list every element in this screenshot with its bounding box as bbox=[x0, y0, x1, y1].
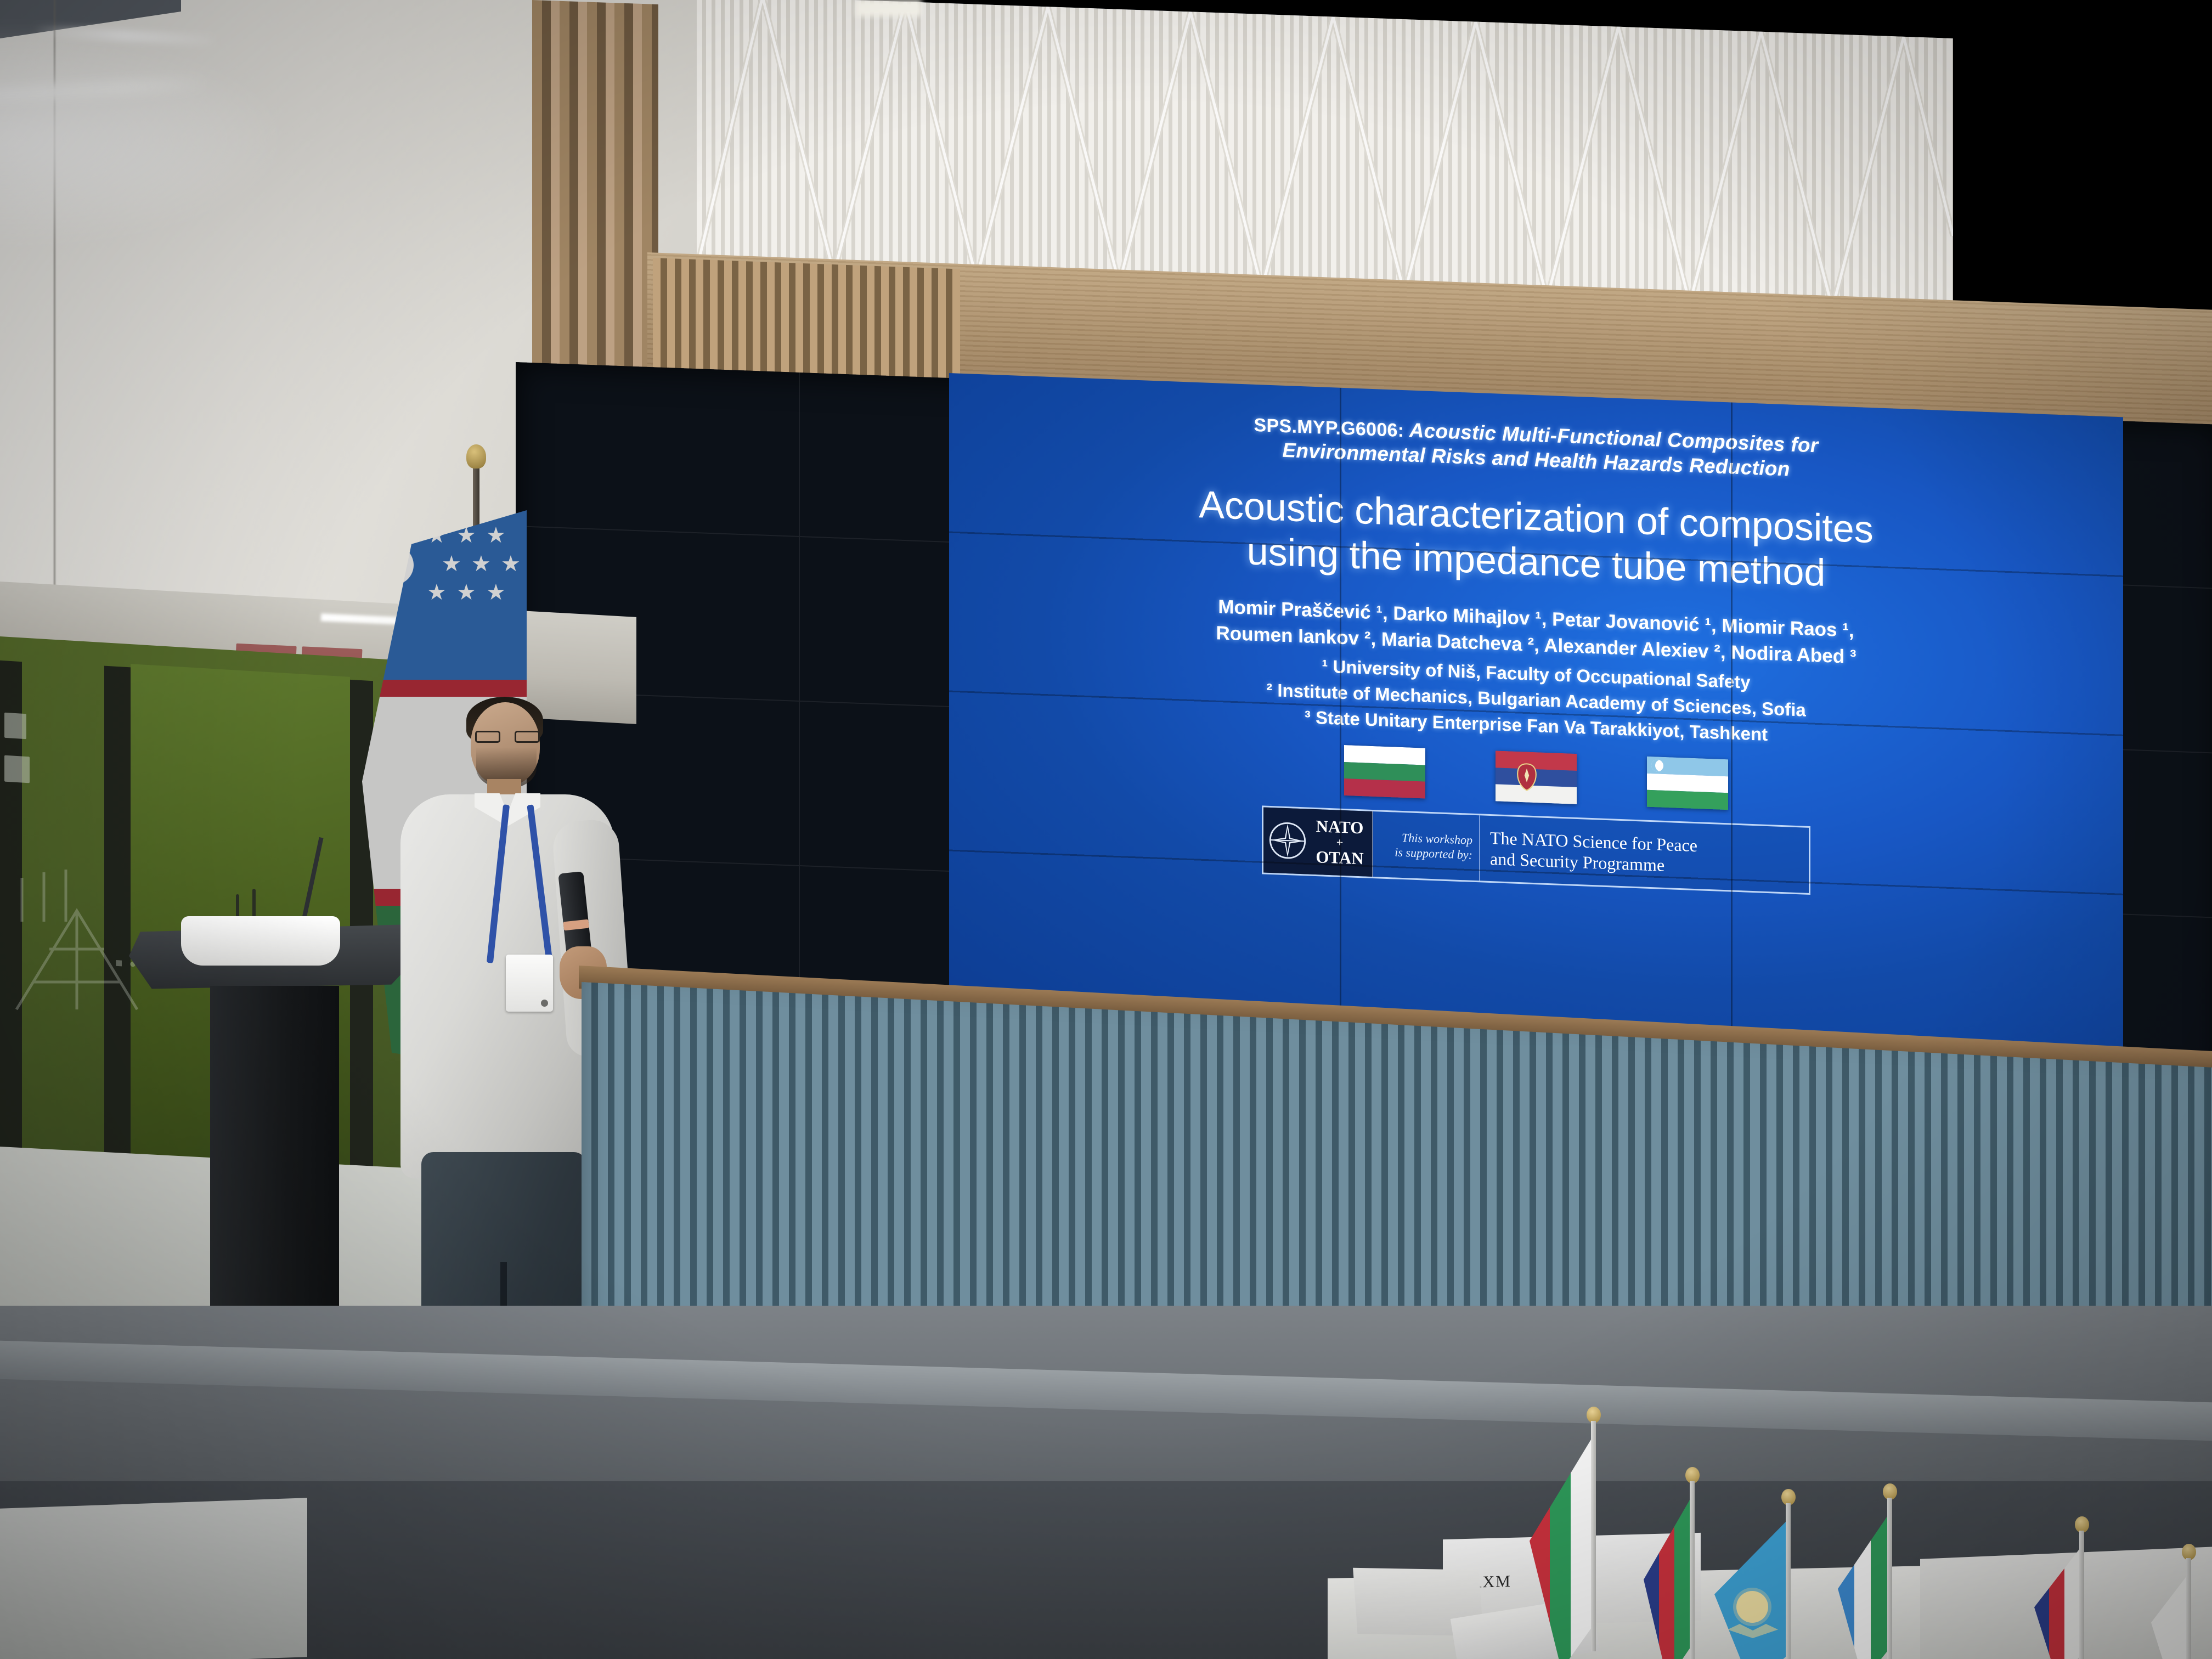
glasses-icon bbox=[475, 731, 540, 743]
serbia-table-flag-2 bbox=[2079, 1531, 2084, 1659]
uzbek-stars-icon: ★★★ ★★★ ★★★ bbox=[427, 524, 520, 623]
flag-pole bbox=[1786, 1503, 1791, 1659]
nato-logo: NATO + OTAN bbox=[1263, 807, 1373, 877]
kazakhstan-table-flag bbox=[1786, 1503, 1791, 1659]
project-code: SPS.MYP.G6006: bbox=[1254, 415, 1404, 441]
lectern-column bbox=[210, 986, 339, 1326]
lectern-tray bbox=[181, 916, 340, 966]
nato-compass-star-icon bbox=[1268, 820, 1307, 861]
nato-programme-text: The NATO Science for Peace and Security … bbox=[1480, 815, 1809, 893]
white-table-flag bbox=[2186, 1558, 2191, 1659]
ceiling-light-glow bbox=[0, 33, 329, 263]
foreground-floor-light-edge bbox=[0, 1498, 307, 1659]
uzbek-crescent-icon bbox=[1651, 759, 1663, 772]
bulgaria-flag bbox=[1344, 745, 1425, 799]
nato-supported-by-text: This workshop is supported by: bbox=[1373, 811, 1480, 881]
serbia-flag bbox=[1496, 751, 1577, 804]
flag-pole bbox=[2079, 1531, 2084, 1659]
balcony-spot-light-icon bbox=[856, 0, 922, 16]
nato-sponsor-box: NATO + OTAN This workshop is supported b… bbox=[1262, 805, 1810, 895]
uzbekistan-flag bbox=[1647, 757, 1728, 810]
flag-pole bbox=[2186, 1558, 2191, 1659]
flag-pole bbox=[1591, 1421, 1596, 1651]
flag-pole bbox=[1690, 1481, 1695, 1659]
serbia-coat-of-arms-icon bbox=[1515, 755, 1538, 800]
nato-logo-line2: OTAN bbox=[1316, 848, 1363, 869]
conference-hall-scene: SPS.MYP.G6006: Acoustic Multi-Functional… bbox=[0, 0, 2212, 1659]
wire-chair-icon bbox=[11, 845, 143, 1026]
flag-pole bbox=[1887, 1498, 1892, 1659]
nato-logo-line1: NATO bbox=[1316, 817, 1364, 838]
flag-finial-icon bbox=[466, 444, 486, 469]
badge bbox=[506, 955, 553, 1012]
kazakh-sun-icon bbox=[1736, 1591, 1768, 1623]
door-sticker-1 bbox=[4, 713, 26, 739]
serbia-table-flag bbox=[1690, 1481, 1695, 1659]
door-sticker-2 bbox=[4, 755, 30, 783]
uzbekistan-table-flag bbox=[1887, 1498, 1892, 1659]
presentation-slide: SPS.MYP.G6006: Acoustic Multi-Functional… bbox=[949, 373, 2123, 1053]
bulgaria-table-flag bbox=[1591, 1421, 1596, 1651]
nato-wordmark: NATO + OTAN bbox=[1307, 816, 1372, 869]
slide-main-title: Acoustic characterization of composites … bbox=[973, 473, 2099, 606]
supported-line-2: is supported by: bbox=[1395, 845, 1472, 863]
